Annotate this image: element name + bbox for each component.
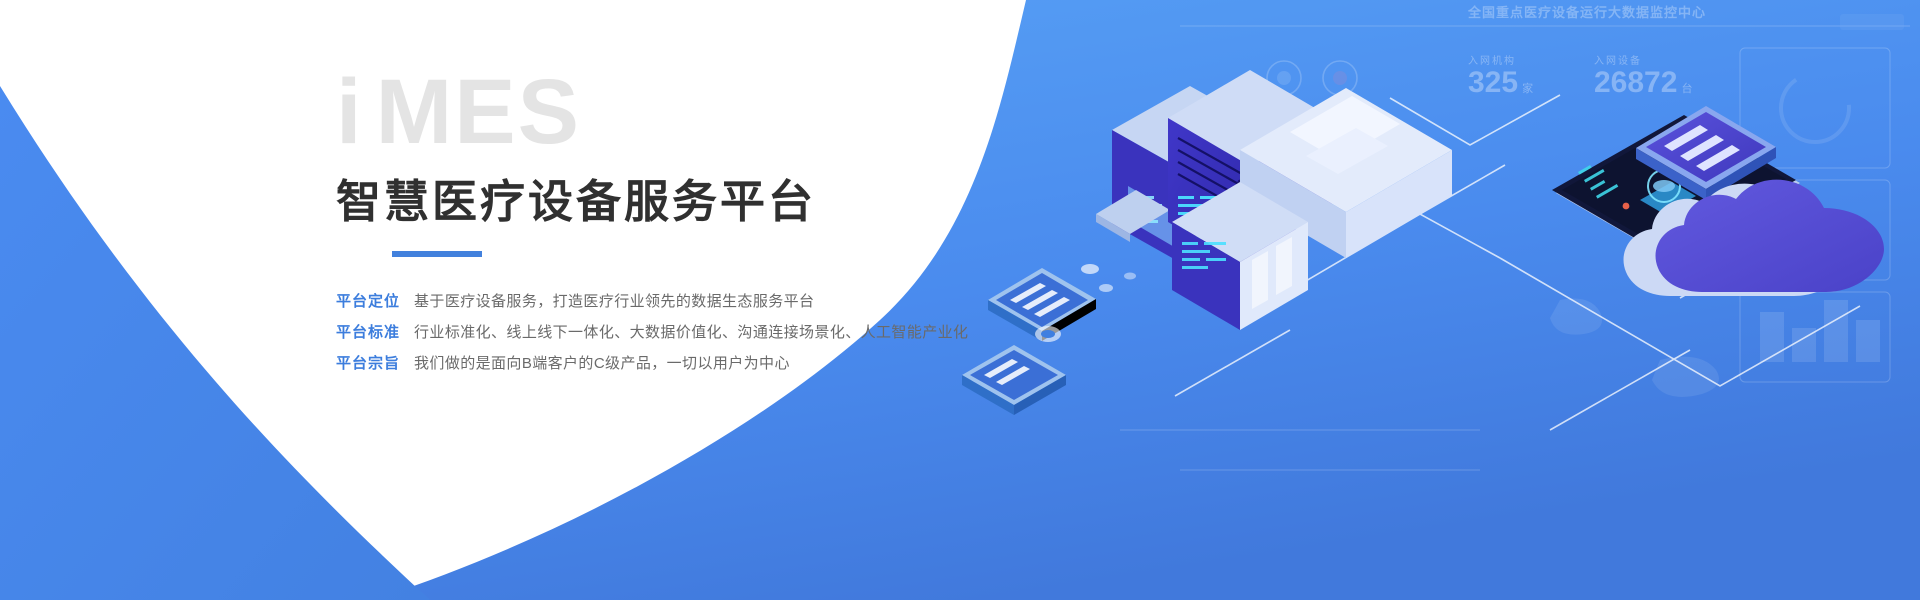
- hud-title: 全国重点医疗设备运行大数据监控中心: [1468, 2, 1706, 21]
- hud-stat-unit: 台: [1681, 83, 1692, 95]
- info-label-purpose: 平台宗旨: [336, 352, 400, 373]
- hud-stat-institutions: 入网机构 325家: [1468, 52, 1533, 98]
- hero-banner: 全国重点医疗设备运行大数据监控中心 入网机构 325家 入网设备 26872台 …: [0, 0, 1920, 600]
- accent-underline: [392, 251, 482, 257]
- list-item: 平台定位 基于医疗设备服务，打造医疗行业领先的数据生态服务平台: [336, 290, 1036, 311]
- info-label-standard: 平台标准: [336, 321, 400, 342]
- list-item: 平台标准 行业标准化、线上线下一体化、大数据价值化、沟通连接场景化、人工智能产业…: [336, 321, 1036, 342]
- brand-letters-mes: MES: [376, 61, 581, 163]
- list-item: 平台宗旨 我们做的是面向B端客户的C级产品，一切以用户为中心: [336, 352, 1036, 373]
- info-label-positioning: 平台定位: [336, 290, 400, 311]
- hud-stat-unit: 家: [1522, 83, 1533, 95]
- hud-stat-caption: 入网设备: [1594, 52, 1692, 67]
- hud-stat-caption: 入网机构: [1468, 52, 1533, 67]
- page-title: 智慧医疗设备服务平台: [336, 176, 1036, 228]
- info-list: 平台定位 基于医疗设备服务，打造医疗行业领先的数据生态服务平台 平台标准 行业标…: [336, 290, 1036, 373]
- hud-stat-value: 26872: [1594, 66, 1677, 99]
- info-text-purpose: 我们做的是面向B端客户的C级产品，一切以用户为中心: [414, 352, 790, 373]
- info-text-positioning: 基于医疗设备服务，打造医疗行业领先的数据生态服务平台: [414, 290, 814, 311]
- brand-wordmark: iMES: [336, 66, 1036, 158]
- hud-stat-devices: 入网设备 26872台: [1594, 52, 1692, 98]
- info-text-standard: 行业标准化、线上线下一体化、大数据价值化、沟通连接场景化、人工智能产业化: [414, 321, 968, 342]
- hero-content: iMES 智慧医疗设备服务平台 平台定位 基于医疗设备服务，打造医疗行业领先的数…: [336, 66, 1036, 383]
- brand-letter-i: i: [336, 61, 376, 163]
- hud-stat-value: 325: [1468, 66, 1518, 99]
